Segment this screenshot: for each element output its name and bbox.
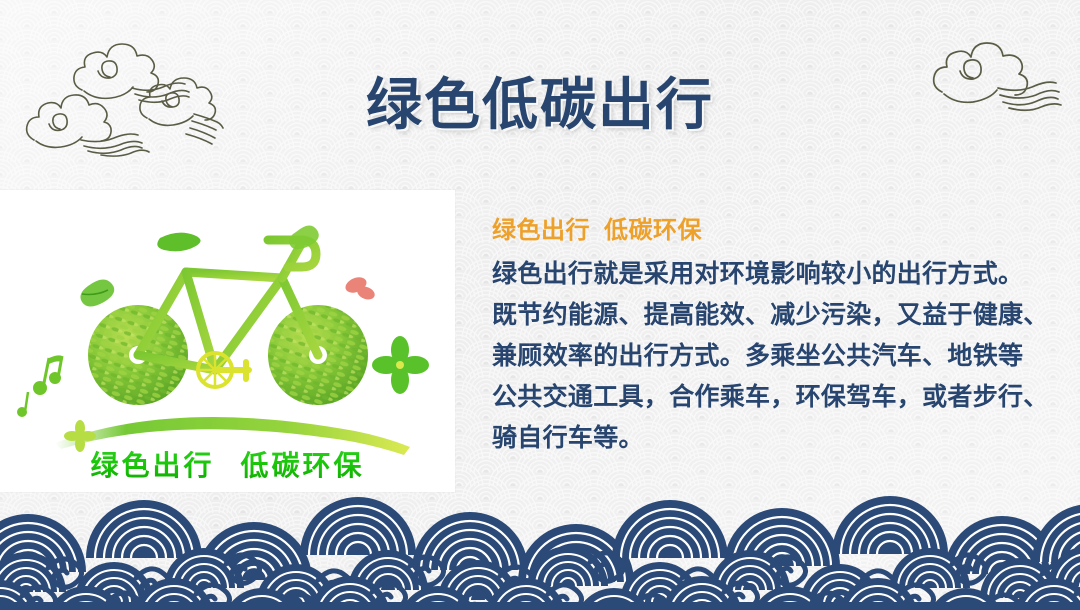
content-line: 公共交通工具，合作乘车，环保驾车，或者步行、 [492,377,1072,418]
content-heading-left: 绿色出行 [492,217,590,244]
slide-title: 绿色低碳出行 [0,74,1080,136]
content-line: 骑自行车等。 [492,418,1072,459]
wave-pattern-graphic [0,490,1080,610]
chinese-wave-border [0,490,1080,610]
content-heading-right: 低碳环保 [604,217,702,244]
content-line: 兼顾效率的出行方式。多乘坐公共汽车、地铁等 [492,336,1072,377]
content-heading: 绿色出行低碳环保 [492,214,1072,248]
illustration-caption-right: 低碳环保 [241,450,365,481]
content-line: 既节约能源、提高能效、减少污染，又益于健康、 [492,295,1072,336]
slide-canvas: 绿色低碳出行 [0,0,1080,610]
content-line: 绿色出行就是采用对环境影响较小的出行方式。 [492,254,1072,295]
illustration-caption: 绿色出行低碳环保 [0,444,455,484]
bicycle-illustration-card: 绿色出行低碳环保 [0,190,455,492]
illustration-caption-left: 绿色出行 [90,450,214,481]
content-text-block: 绿色出行低碳环保 绿色出行就是采用对环境影响较小的出行方式。 既节约能源、提高能… [492,214,1072,459]
